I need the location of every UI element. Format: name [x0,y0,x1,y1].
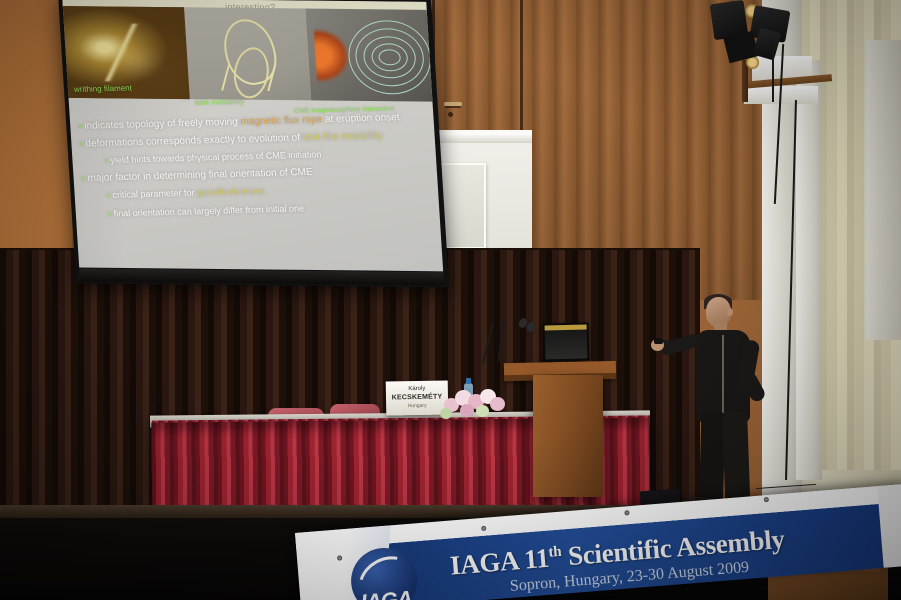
banner-grommet [481,526,486,531]
speaker-shirt-placket [722,335,724,419]
slide-bullet-3: ▪ yield hints towards physical process o… [104,150,322,165]
slide-bullet-3-text: yield hints towards physical process of … [110,149,322,165]
banner-grommet [624,510,629,515]
kink-loop-legs [221,64,276,90]
bullet-dot-icon: ▪ [106,190,110,200]
white-column-secondary [796,60,822,480]
slide-bullet-2: ▪ deformations corresponds exactly to ev… [79,131,383,150]
magnetosphere-fieldlines-icon [349,18,430,97]
podium-body: SZÉCHENYI KULTURÁLIS ZPONT CHENY [533,375,603,497]
bullet-dot-icon: ▪ [78,121,82,131]
flower-petal [460,404,474,417]
projection-screen-surface: ... interesting? [62,0,443,271]
presentation-remote [654,338,663,344]
laptop-top-band [545,324,587,330]
slide-bullet-5-hl: geoeffectiveness [196,186,264,198]
banner-grommet [764,497,769,502]
bullet-dot-icon: ▪ [107,209,111,219]
bullet-dot-icon: ▪ [104,155,108,165]
placard-country: Hungary [386,401,448,410]
slide-bullet-1-post: at eruption onset [322,112,400,125]
white-pilaster-far-right [866,40,901,340]
light-power-cable-a [772,40,774,102]
projection-screen: ... interesting? [58,0,449,287]
slide-label-kink: kink instability [195,97,245,107]
flower-arrangement [440,388,508,422]
slide-bullet-4: ▪ major factor in determining final orie… [81,168,313,185]
slide-bullet-1-hl: magnetic flux rope [240,114,323,127]
door-lock-icon [448,112,453,117]
door-handle-icon [444,102,462,106]
slide-label-filament: writhing filament [74,84,133,94]
slide-image-kink [184,7,311,100]
banner-title-sup: th [548,544,562,561]
slide-image-magnetosphere [305,9,432,102]
slide-bullet-5-pre: critical parameter for [112,188,198,200]
slide-bullet-6-text: final orientation can largely differ fro… [113,203,304,218]
name-placard: Károly KECSKEMÉTY Hungary [386,380,449,415]
flower-leaf [440,408,452,419]
sun-limb-icon [314,29,351,83]
podium-laptop [543,322,590,361]
slide-bullet-2-hl: kink-like instability [302,130,383,143]
speaker-ear [727,308,733,316]
slide-bullet-5: ▪ critical parameter for geoeffectivenes… [106,187,265,201]
slide-bullet-1-pre: indicates topology of freely moving [84,117,241,132]
flower-petal [490,397,505,411]
door-seam-right [520,0,523,130]
bullet-dot-icon: ▪ [81,173,85,183]
flower-leaf [476,405,489,417]
slide-bullet-1: ▪ indicates topology of freely moving ma… [78,113,400,132]
slide-bullet-6: ▪ final orientation can largely differ f… [108,204,305,219]
slide-bullet-4-text: major factor in determining final orient… [87,167,313,184]
conference-photo-scene: ... interesting? [0,0,901,600]
bullet-dot-icon: ▪ [79,139,83,149]
slide-bullet-2-pre: deformations corresponds exactly to evol… [85,132,303,149]
